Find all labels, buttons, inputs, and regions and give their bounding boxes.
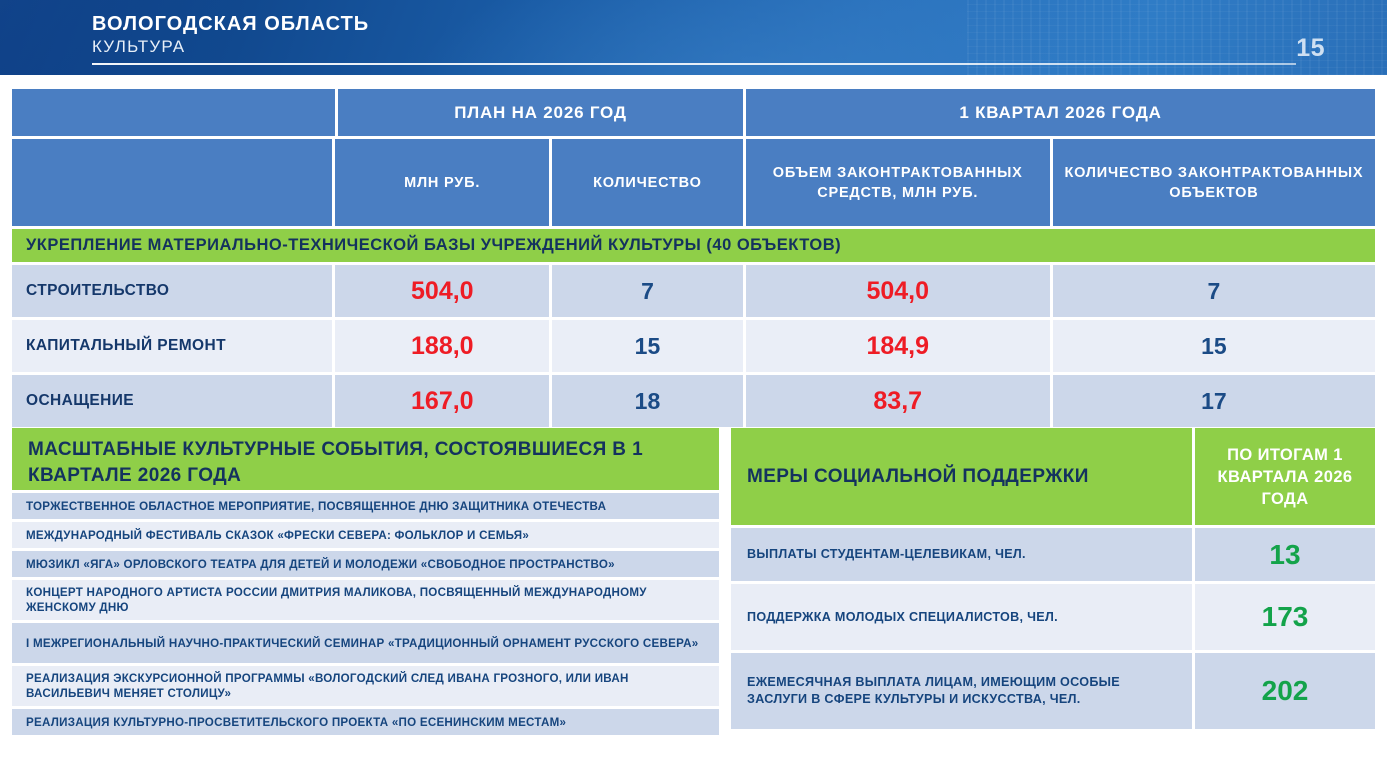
support-panel: МЕРЫ СОЦИАЛЬНОЙ ПОДДЕРЖКИ ПО ИТОГАМ 1 КВ… <box>731 428 1375 729</box>
section-banner: УКРЕПЛЕНИЕ МАТЕРИАЛЬНО-ТЕХНИЧЕСКОЙ БАЗЫ … <box>12 229 1375 262</box>
slide-header: ВОЛОГОДСКАЯ ОБЛАСТЬ КУЛЬТУРА 15 <box>0 0 1387 75</box>
header-divider <box>92 63 1296 65</box>
support-row-value: 173 <box>1195 584 1375 650</box>
column-header-q1-mln: ОБЪЕМ ЗАКОНТРАКТОВАННЫХ СРЕДСТВ, МЛН РУБ… <box>746 139 1050 226</box>
support-header-row: МЕРЫ СОЦИАЛЬНОЙ ПОДДЕРЖКИ ПО ИТОГАМ 1 КВ… <box>731 428 1375 525</box>
table-row: ОСНАЩЕНИЕ 167,0 18 83,7 17 <box>12 375 1375 427</box>
row-label: КАПИТАЛЬНЫЙ РЕМОНТ <box>12 320 332 372</box>
table-group-header-row: ПЛАН НА 2026 ГОД 1 КВАРТАЛ 2026 ГОДА <box>12 89 1375 136</box>
column-header-q1-count: КОЛИЧЕСТВО ЗАКОНТРАКТОВАННЫХ ОБЪЕКТОВ <box>1053 139 1375 226</box>
cell-q1-mln: 184,9 <box>746 320 1050 372</box>
group-header-plan: ПЛАН НА 2026 ГОД <box>338 89 743 136</box>
table-corner-cell <box>12 89 335 136</box>
list-item: МЮЗИКЛ «ЯГА» ОРЛОВСКОГО ТЕАТРА ДЛЯ ДЕТЕЙ… <box>12 551 719 577</box>
page-subtitle: КУЛЬТУРА <box>92 36 369 58</box>
events-panel-title: МАСШТАБНЫЕ КУЛЬТУРНЫЕ СОБЫТИЯ, СОСТОЯВШИ… <box>12 428 719 490</box>
cell-plan-count: 7 <box>552 265 742 317</box>
header-text-block: ВОЛОГОДСКАЯ ОБЛАСТЬ КУЛЬТУРА <box>92 12 369 58</box>
list-item: I МЕЖРЕГИОНАЛЬНЫЙ НАУЧНО-ПРАКТИЧЕСКИЙ СЕ… <box>12 623 719 663</box>
column-header-plan-count: КОЛИЧЕСТВО <box>552 139 742 226</box>
events-panel: МАСШТАБНЫЕ КУЛЬТУРНЫЕ СОБЫТИЯ, СОСТОЯВШИ… <box>12 428 719 735</box>
support-panel-title: МЕРЫ СОЦИАЛЬНОЙ ПОДДЕРЖКИ <box>731 428 1192 525</box>
row-label: СТРОИТЕЛЬСТВО <box>12 265 332 317</box>
cell-plan-count: 15 <box>552 320 742 372</box>
page-title: ВОЛОГОДСКАЯ ОБЛАСТЬ <box>92 12 369 36</box>
table-row: ЕЖЕМЕСЯЧНАЯ ВЫПЛАТА ЛИЦАМ, ИМЕЮЩИМ ОСОБЫ… <box>731 653 1375 729</box>
support-row-label: ВЫПЛАТЫ СТУДЕНТАМ-ЦЕЛЕВИКАМ, ЧЕЛ. <box>731 528 1192 581</box>
cell-q1-mln: 504,0 <box>746 265 1050 317</box>
cell-plan-mln: 504,0 <box>335 265 549 317</box>
support-row-label: ЕЖЕМЕСЯЧНАЯ ВЫПЛАТА ЛИЦАМ, ИМЕЮЩИМ ОСОБЫ… <box>731 653 1192 729</box>
table-row: ВЫПЛАТЫ СТУДЕНТАМ-ЦЕЛЕВИКАМ, ЧЕЛ. 13 <box>731 528 1375 581</box>
list-item: РЕАЛИЗАЦИЯ КУЛЬТУРНО-ПРОСВЕТИТЕЛЬСКОГО П… <box>12 709 719 735</box>
table-row: СТРОИТЕЛЬСТВО 504,0 7 504,0 7 <box>12 265 1375 317</box>
cell-plan-mln: 188,0 <box>335 320 549 372</box>
group-header-q1: 1 КВАРТАЛ 2026 ГОДА <box>746 89 1375 136</box>
list-item: РЕАЛИЗАЦИЯ ЭКСКУРСИОННОЙ ПРОГРАММЫ «ВОЛО… <box>12 666 719 706</box>
cell-q1-count: 17 <box>1053 375 1375 427</box>
support-row-value: 202 <box>1195 653 1375 729</box>
cell-q1-count: 7 <box>1053 265 1375 317</box>
main-table: ПЛАН НА 2026 ГОД 1 КВАРТАЛ 2026 ГОДА МЛН… <box>12 89 1375 414</box>
cell-plan-mln: 167,0 <box>335 375 549 427</box>
row-label: ОСНАЩЕНИЕ <box>12 375 332 427</box>
support-value-header: ПО ИТОГАМ 1 КВАРТАЛА 2026 ГОДА <box>1195 428 1375 525</box>
support-row-value: 13 <box>1195 528 1375 581</box>
table-row: КАПИТАЛЬНЫЙ РЕМОНТ 188,0 15 184,9 15 <box>12 320 1375 372</box>
slide-root: ВОЛОГОДСКАЯ ОБЛАСТЬ КУЛЬТУРА 15 ПЛАН НА … <box>0 0 1387 774</box>
list-item: МЕЖДУНАРОДНЫЙ ФЕСТИВАЛЬ СКАЗОК «ФРЕСКИ С… <box>12 522 719 548</box>
column-header-plan-mln: МЛН РУБ. <box>335 139 549 226</box>
slide-page-number: 15 <box>1296 34 1325 63</box>
table-corner-cell-2 <box>12 139 332 226</box>
support-row-label: ПОДДЕРЖКА МОЛОДЫХ СПЕЦИАЛИСТОВ, ЧЕЛ. <box>731 584 1192 650</box>
list-item: ТОРЖЕСТВЕННОЕ ОБЛАСТНОЕ МЕРОПРИЯТИЕ, ПОС… <box>12 493 719 519</box>
cell-q1-mln: 83,7 <box>746 375 1050 427</box>
cell-q1-count: 15 <box>1053 320 1375 372</box>
cell-plan-count: 18 <box>552 375 742 427</box>
list-item: КОНЦЕРТ НАРОДНОГО АРТИСТА РОССИИ ДМИТРИЯ… <box>12 580 719 620</box>
table-column-header-row: МЛН РУБ. КОЛИЧЕСТВО ОБЪЕМ ЗАКОНТРАКТОВАН… <box>12 139 1375 226</box>
table-row: ПОДДЕРЖКА МОЛОДЫХ СПЕЦИАЛИСТОВ, ЧЕЛ. 173 <box>731 584 1375 650</box>
